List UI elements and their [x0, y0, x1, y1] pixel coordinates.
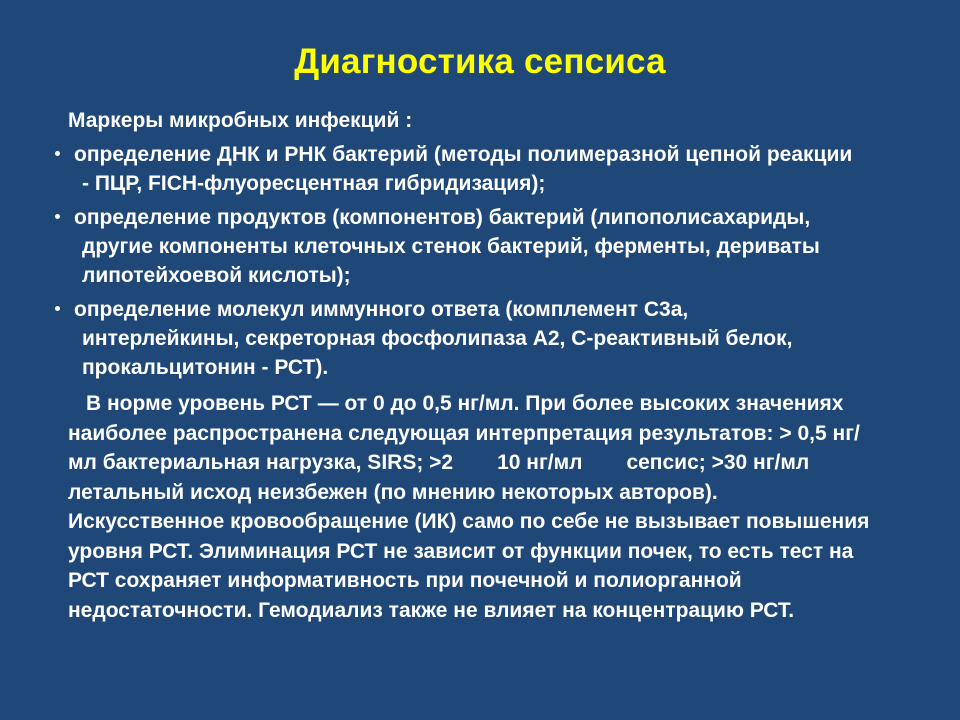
- list-item-line: определение продуктов (компонентов) бакт…: [74, 203, 908, 232]
- list-item-line: липотейхоевой кислоты);: [74, 261, 908, 290]
- list-item-line: прокальцитонин - РСТ).: [74, 353, 908, 382]
- list-item: определение молекул иммунного ответа (ко…: [52, 295, 908, 382]
- list-item-line: интерлейкины, секреторная фосфолипаза А2…: [74, 324, 908, 353]
- bullet-dot-icon: [55, 306, 60, 311]
- paragraph-line: Искусственное кровообращение (ИК) само п…: [68, 507, 908, 537]
- slide-canvas: Диагностика сепсиса Маркеры микробных ин…: [0, 0, 960, 720]
- paragraph-line: мл бактериальная нагрузка, SIRS; >210 нг…: [68, 448, 908, 478]
- list-item-line: - ПЦР, FICH-флуоресцентная гибридизация)…: [74, 169, 908, 198]
- paragraph-line: наиболее распространена следующая интерп…: [68, 419, 908, 449]
- bullet-dot-icon: [55, 214, 60, 219]
- paragraph-line: уровня РСТ. Элиминация РСТ не зависит от…: [68, 537, 908, 567]
- slide-body: Маркеры микробных инфекций : определение…: [52, 106, 908, 625]
- paragraph-line: летальный исход неизбежен (по мнению нек…: [68, 478, 908, 508]
- paragraph-segment: сепсис; >30 нг/мл: [626, 451, 809, 474]
- paragraph-line: недостаточности. Гемодиализ также не вли…: [68, 596, 908, 626]
- list-item: определение продуктов (компонентов) бакт…: [52, 203, 908, 290]
- paragraph-segment: 10 нг/мл: [497, 451, 582, 474]
- paragraph-segment: мл бактериальная нагрузка, SIRS; >2: [68, 451, 453, 474]
- bullet-dot-icon: [55, 151, 60, 156]
- list-item-line: другие компоненты клеточных стенок бакте…: [74, 232, 908, 261]
- list-item: определение ДНК и РНК бактерий (методы п…: [52, 140, 908, 198]
- list-item-line: определение ДНК и РНК бактерий (методы п…: [74, 140, 908, 169]
- paragraph-line: В норме уровень РСТ — от 0 до 0,5 нг/мл.…: [68, 389, 908, 419]
- paragraph-line: РСТ сохраняет информативность при почечн…: [68, 566, 908, 596]
- slide-title: Диагностика сепсиса: [0, 44, 960, 81]
- list-item-text: определение ДНК и РНК бактерий (методы п…: [74, 140, 908, 198]
- closing-paragraph: В норме уровень РСТ — от 0 до 0,5 нг/мл.…: [52, 389, 908, 625]
- list-item-text: определение молекул иммунного ответа (ко…: [74, 295, 908, 382]
- body-subtitle: Маркеры микробных инфекций :: [52, 106, 908, 135]
- list-item-line: определение молекул иммунного ответа (ко…: [74, 295, 908, 324]
- list-item-text: определение продуктов (компонентов) бакт…: [74, 203, 908, 290]
